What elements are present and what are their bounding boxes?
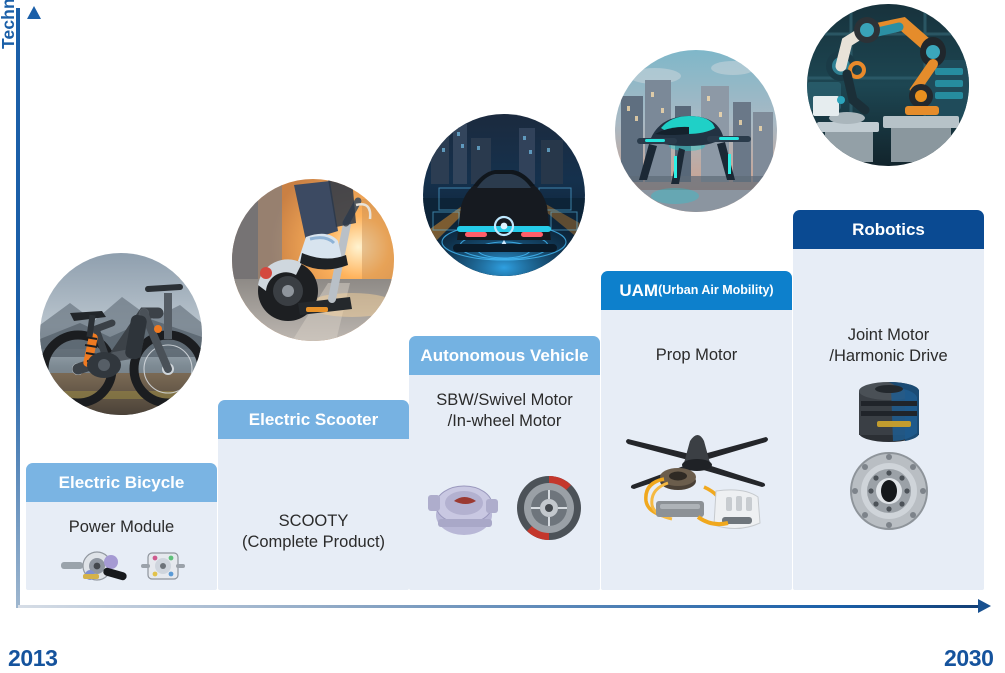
joint-motor-harmonic-drive-art: [793, 377, 984, 531]
x-axis-arrow-icon: [978, 599, 991, 613]
autonomous-vehicle-photo: [423, 114, 585, 276]
card-caption: Power Module: [26, 517, 217, 538]
card-header-robotics: Robotics: [793, 210, 984, 249]
card-header-uam: UAM(Urban Air Mobility): [601, 271, 792, 310]
x-axis-line: [18, 605, 980, 608]
card-caption-line1: Joint Motor: [793, 325, 984, 346]
card-header-electric-scooter: Electric Scooter: [218, 400, 409, 439]
card-title: Electric Bicycle: [59, 474, 185, 491]
card-uam[interactable]: UAM(Urban Air Mobility) Prop Motor: [601, 271, 792, 590]
card-robotics[interactable]: Robotics Joint Motor /Harmonic Drive: [793, 210, 984, 590]
electric-bicycle-photo: [40, 253, 202, 415]
card-caption-line2: (Complete Product): [218, 532, 409, 553]
card-body-robotics: Joint Motor /Harmonic Drive: [793, 249, 984, 366]
card-title: Electric Scooter: [249, 411, 378, 428]
electric-scooter-photo: [232, 179, 394, 341]
swivel-inwheel-motor-art: [409, 473, 600, 543]
card-header-electric-bicycle: Electric Bicycle: [26, 463, 217, 502]
card-caption-line1: SCOOTY: [218, 511, 409, 532]
card-caption-line2: /Harmonic Drive: [793, 346, 984, 367]
card-body-electric-scooter: SCOOTY (Complete Product): [218, 439, 409, 552]
card-autonomous-vehicle[interactable]: Autonomous Vehicle SBW/Swivel Motor /In-…: [409, 336, 600, 590]
technology-roadmap-chart: Technological Advancement: [0, 0, 1005, 673]
card-body-autonomous-vehicle: SBW/Swivel Motor /In-wheel Motor: [409, 375, 600, 431]
x-axis-end-year: 2030: [944, 645, 994, 672]
card-title: Robotics: [852, 221, 925, 238]
card-electric-bicycle[interactable]: Electric Bicycle Power Module: [26, 463, 217, 590]
robotics-arm-photo: [807, 4, 969, 166]
prop-motor-art: [601, 425, 792, 540]
card-title: Autonomous Vehicle: [420, 347, 588, 364]
card-electric-scooter[interactable]: Electric Scooter SCOOTY (Complete Produc…: [218, 400, 409, 590]
card-body-uam: Prop Motor: [601, 310, 792, 366]
x-axis-start-year: 2013: [8, 645, 58, 672]
uam-air-taxi-photo: [615, 50, 777, 212]
card-subtitle: (Urban Air Mobility): [658, 284, 774, 297]
card-caption-line2: /In-wheel Motor: [409, 411, 600, 432]
power-module-art: [26, 546, 217, 586]
y-axis-label: Technological Advancement: [0, 0, 19, 49]
card-caption-line1: Prop Motor: [601, 345, 792, 366]
card-title: UAM: [619, 282, 658, 299]
card-caption-line1: SBW/Swivel Motor: [409, 390, 600, 411]
y-axis-line: [16, 8, 20, 608]
y-axis-arrow-icon: [27, 6, 41, 19]
card-header-autonomous-vehicle: Autonomous Vehicle: [409, 336, 600, 375]
card-body-electric-bicycle: Power Module: [26, 502, 217, 538]
